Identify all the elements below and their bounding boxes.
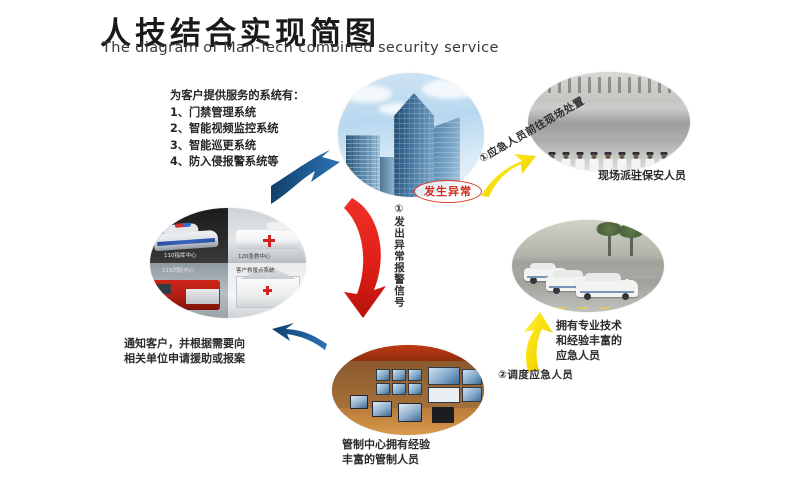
caption-control-center: 管制中心拥有经验 丰富的管制人员 <box>342 437 430 467</box>
ceiling-band <box>332 345 484 361</box>
arrow-blue-left <box>272 323 327 350</box>
fire-truck <box>152 280 220 310</box>
photo-emergency-services: 110指挥中心 120急救中心 119消防中心 客户救援点系统 <box>150 208 306 318</box>
wall-screen-large <box>428 367 460 385</box>
wall-screen <box>392 369 406 381</box>
desk-monitor-off <box>432 407 454 423</box>
desk-monitor <box>372 401 392 417</box>
systems-list: 为客户提供服务的系统有： 1、门禁管理系统 2、智能视频监控系统 3、智能巡更系… <box>170 88 304 171</box>
building-left <box>346 135 380 197</box>
wall-screen <box>462 369 482 385</box>
quadrant-label: 客户救援点系统 <box>236 266 275 274</box>
quadrant-label: 119消防中心 <box>162 266 195 274</box>
police-car <box>153 230 218 251</box>
wall-screen <box>392 383 406 395</box>
quadrant-rescue-point: 客户救援点系统 <box>228 263 306 318</box>
status-badge-abnormal: 发生异常 <box>414 180 482 203</box>
wall-screen <box>376 369 390 381</box>
ambulance <box>236 230 298 249</box>
quadrant-fire: 119消防中心 <box>150 263 228 318</box>
background-building <box>528 72 690 102</box>
cloud-shape <box>344 85 392 103</box>
quadrant-label: 110指挥中心 <box>164 251 197 259</box>
arrow-red-down <box>344 198 386 318</box>
photo-control-center <box>332 345 484 435</box>
desk-monitor <box>398 403 422 422</box>
caption-emergency-team: 拥有专业技术 和经验丰富的 应急人员 <box>556 318 622 363</box>
cloud-shape <box>422 79 478 99</box>
quadrant-police: 110指挥中心 <box>150 208 228 263</box>
caption-security-guards: 现场派驻保安人员 <box>598 168 686 183</box>
caption-notify-client: 通知客户，并根据需要向 相关单位申请援助或报案 <box>124 336 245 366</box>
palm-fronds <box>618 224 644 238</box>
diagram-canvas: 人技结合实现简图 The diagram of Man-Tech combine… <box>0 0 802 477</box>
wall-screen <box>376 383 390 395</box>
wall-screen <box>408 383 422 395</box>
photo-client-building <box>338 73 484 197</box>
background-wall <box>512 220 664 257</box>
desk-monitor <box>350 395 368 409</box>
rescue-tent <box>236 276 300 308</box>
quadrant-label: 120急救中心 <box>238 252 271 260</box>
arrow-yellow-up-right <box>524 312 553 372</box>
label-step1-signal: ①发出异常报警信号 <box>393 203 404 308</box>
page-subtitle: The diagram of Man-Tech combined securit… <box>102 40 499 56</box>
patrol-car <box>576 280 638 297</box>
wall-screen <box>462 387 482 402</box>
wall-screen-large <box>428 387 460 403</box>
label-step2-dispatch: ②调度应急人员 <box>498 367 573 382</box>
quadrant-ambulance: 120急救中心 <box>228 208 306 263</box>
wall-screen <box>408 369 422 381</box>
photo-emergency-team <box>512 220 664 312</box>
